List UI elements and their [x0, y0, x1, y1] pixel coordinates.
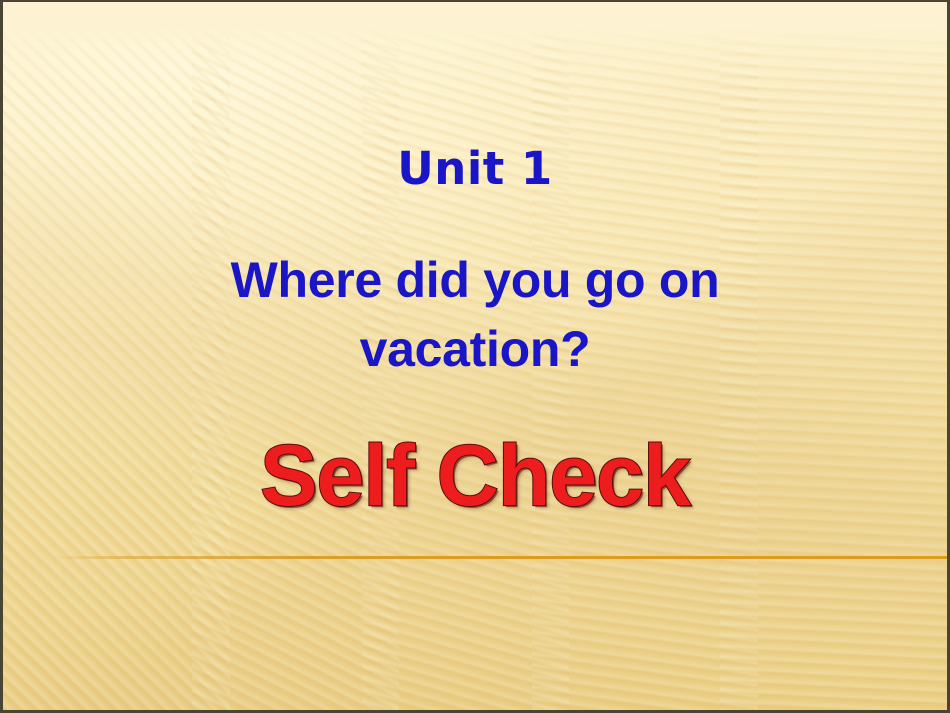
presentation-slide: Unit 1 Where did you go on vacation? Sel…: [0, 0, 950, 713]
lesson-question-title: Where did you go on vacation?: [3, 246, 947, 384]
unit-title: Unit 1: [3, 142, 947, 195]
lesson-question-line-1: Where did you go on: [3, 246, 947, 315]
slide-content: Unit 1 Where did you go on vacation? Sel…: [3, 2, 947, 710]
lesson-question-line-2: vacation?: [3, 315, 947, 384]
section-title-self-check: Self Check: [3, 426, 947, 526]
